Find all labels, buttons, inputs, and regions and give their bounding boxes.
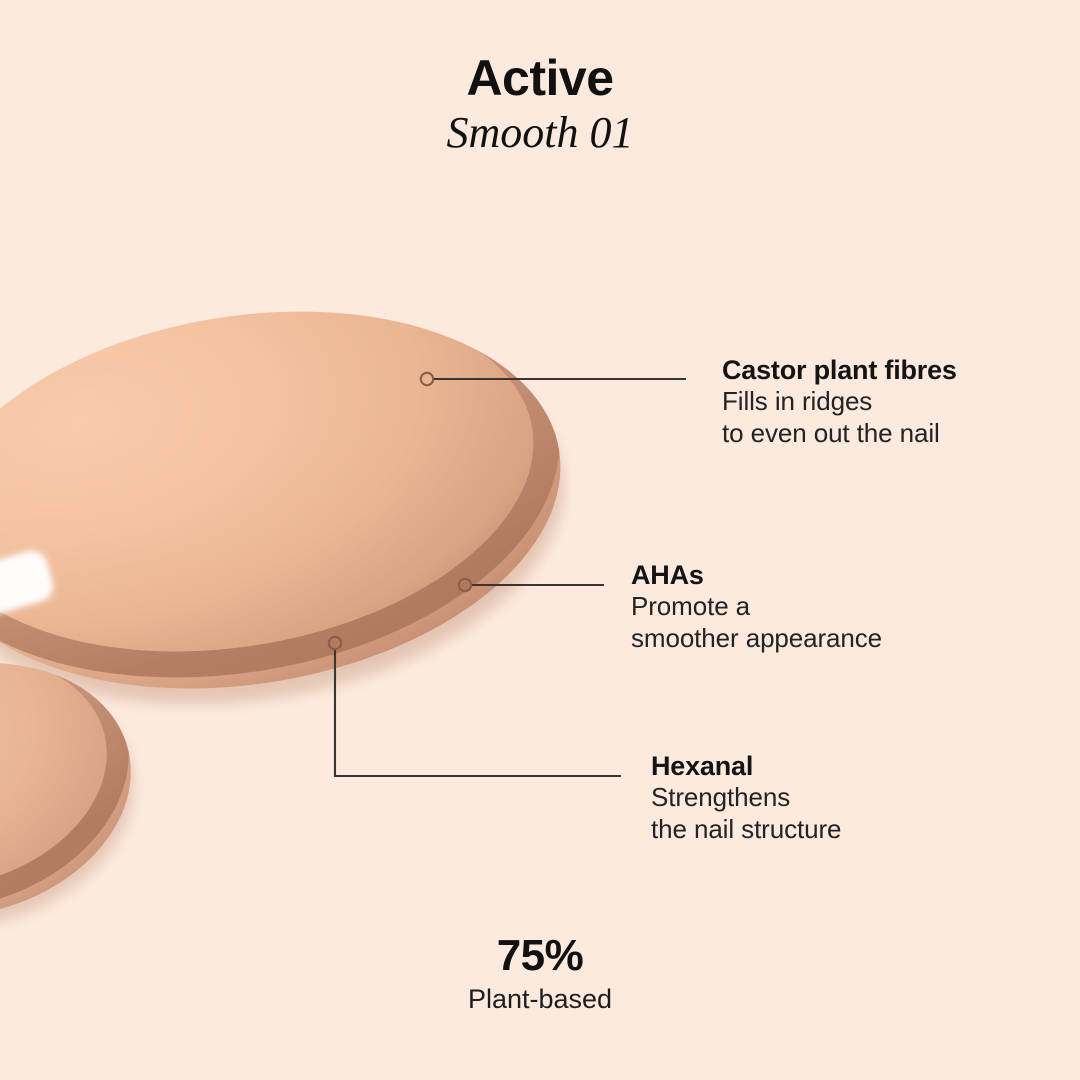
plant-based-stat: 75% Plant-based — [0, 932, 1080, 1015]
leader-dot-castor-plant-fibres — [421, 373, 433, 385]
annotation-title: Castor plant fibres — [722, 355, 957, 386]
annotation-title: Hexanal — [651, 751, 841, 782]
droplet-highlight — [0, 547, 57, 630]
annotation-line-1: Fills in ridges — [722, 386, 957, 417]
droplet-secondary-shadow — [0, 648, 160, 961]
stat-value: 75% — [0, 932, 1080, 980]
leader-line-castor-plant-fibres — [421, 373, 686, 385]
droplet-primary-rim — [0, 245, 574, 708]
annotation-line-2: smoother appearance — [631, 623, 882, 654]
page-title: Active — [0, 52, 1080, 105]
droplet-primary — [0, 269, 588, 732]
leader-line-ahas — [459, 579, 604, 591]
droplet-secondary-rim — [0, 611, 145, 933]
annotation-title: AHAs — [631, 560, 882, 591]
leader-line-hexanal — [329, 637, 621, 776]
annotation-line-2: to even out the nail — [722, 418, 957, 449]
stat-label: Plant-based — [0, 984, 1080, 1015]
leader-dot-ahas — [459, 579, 471, 591]
annotation-ahas: AHAs Promote a smoother appearance — [631, 560, 882, 654]
annotation-castor-plant-fibres: Castor plant fibres Fills in ridges to e… — [722, 355, 957, 449]
annotation-line-1: Promote a — [631, 591, 882, 622]
header: Active Smooth 01 — [0, 52, 1080, 157]
droplet-primary-shadow — [0, 293, 590, 747]
droplet-secondary — [0, 629, 158, 951]
annotation-line-2: the nail structure — [651, 814, 841, 845]
product-ingredient-infographic: Active Smooth 01 Castor plant fibres Fil… — [0, 0, 1080, 1080]
artwork-layer — [0, 0, 1080, 1080]
leader-dot-hexanal — [329, 637, 341, 649]
annotation-hexanal: Hexanal Strengthens the nail structure — [651, 751, 841, 845]
page-subtitle: Smooth 01 — [0, 109, 1080, 157]
annotation-line-1: Strengthens — [651, 782, 841, 813]
